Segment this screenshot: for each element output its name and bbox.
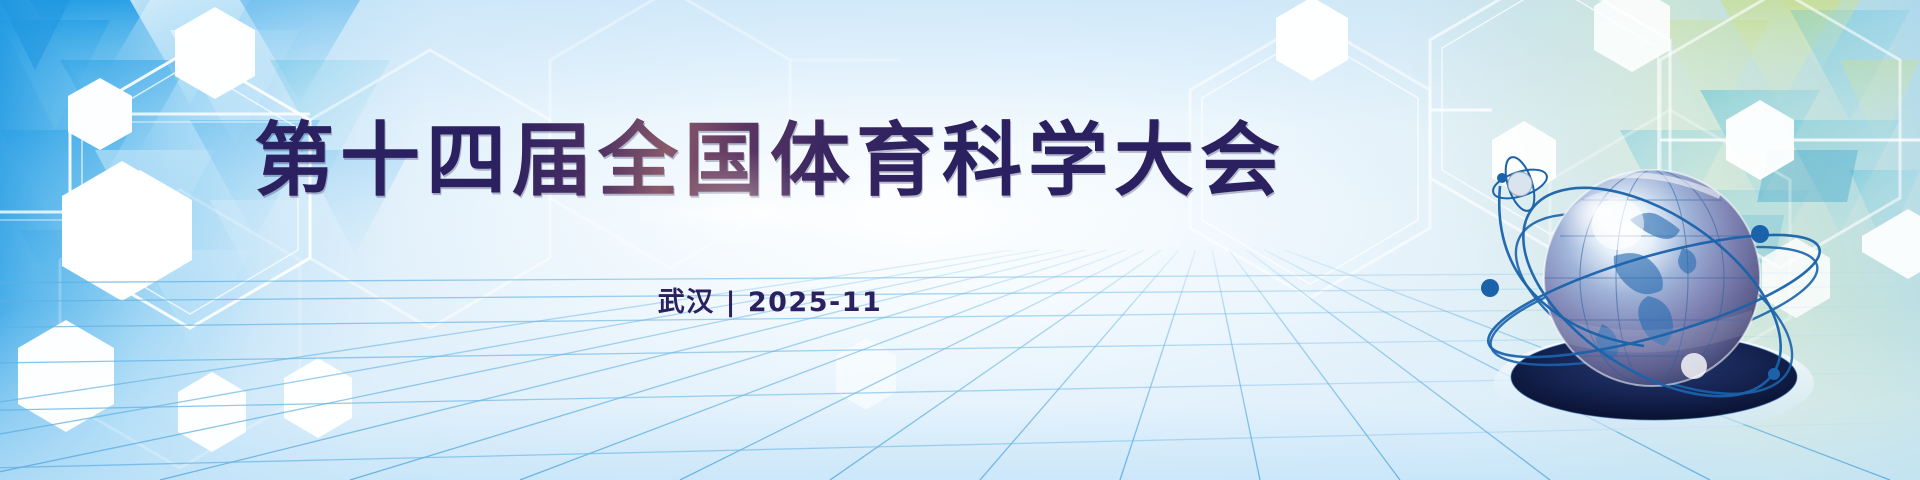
- conference-banner: 第十四届全国体育科学大会 武汉 | 2025-11: [0, 0, 1920, 480]
- page-title: 第十四届全国体育科学大会: [254, 116, 1286, 206]
- banner-title-wrap: 第十四届全国体育科学大会: [0, 116, 1540, 206]
- banner-subtitle: 武汉 | 2025-11: [0, 280, 1540, 319]
